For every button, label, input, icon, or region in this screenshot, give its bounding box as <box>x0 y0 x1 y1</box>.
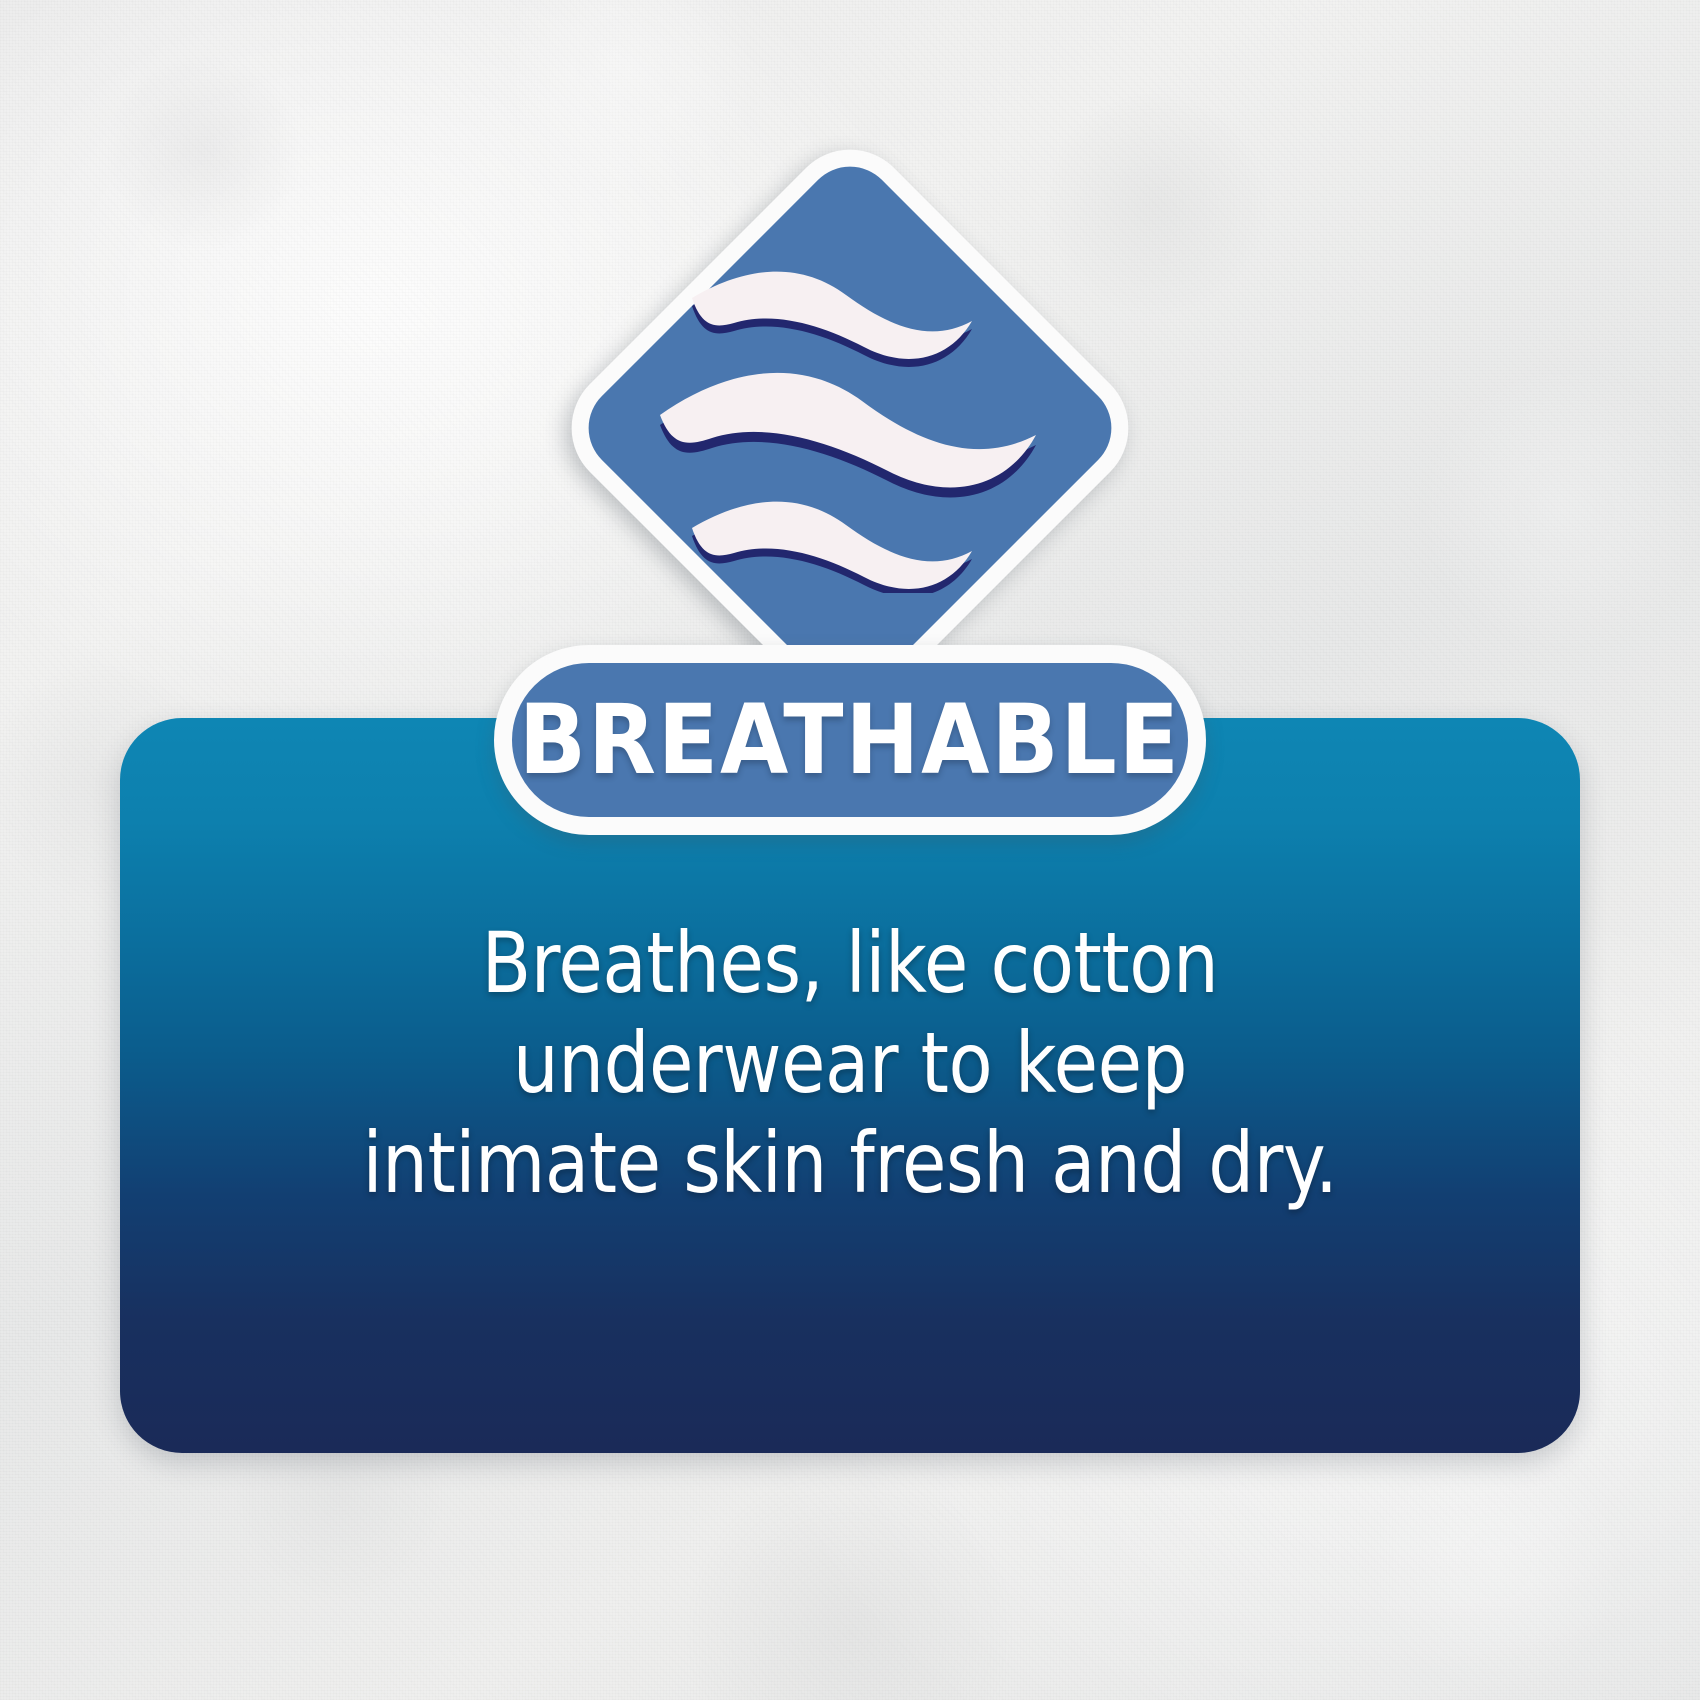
description-line-3: intimate skin fresh and dry. <box>262 1114 1438 1214</box>
breathable-label-text: BREATHABLE <box>519 692 1181 788</box>
breathable-label-pill: BREATHABLE <box>494 645 1206 835</box>
breathable-diamond-badge <box>546 124 1154 732</box>
feature-badge-graphic: Breathes, like cotton underwear to keep … <box>0 0 1700 1700</box>
feature-description-text: Breathes, like cotton underwear to keep … <box>120 914 1580 1214</box>
description-line-1: Breathes, like cotton <box>262 914 1438 1014</box>
description-line-2: underwear to keep <box>262 1014 1438 1114</box>
